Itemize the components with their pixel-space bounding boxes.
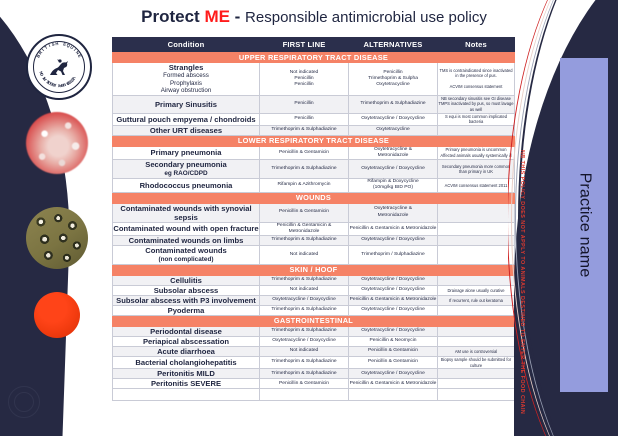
cell-first-line: Not indicatedPenicillinPenicillin xyxy=(260,63,349,96)
cell-alternatives: Penicillin & Gentamicin & Metronidazole xyxy=(349,295,438,305)
cell-alternatives: Rifampin & Doxycycline(10mg/kg BID PO) xyxy=(349,179,438,192)
cell-first-line: Trimethoprim & Sulphadiazine xyxy=(260,160,349,179)
cell-condition: Cellulitis xyxy=(113,275,260,285)
cell-first-line: Trimethoprim & Sulphadiazine xyxy=(260,235,349,245)
cell-alternatives: Oxytetracycline / Doxycycline xyxy=(349,275,438,285)
cell-notes: ACVIM consensus statement 2011 xyxy=(438,179,515,192)
cell-condition: Contaminated wounds on limbs xyxy=(113,235,260,245)
cell-notes xyxy=(438,369,515,379)
condition-name: Peritonitis SEVERE xyxy=(113,379,259,388)
table-row: Bacterial cholangiohepatitisTrimethoprim… xyxy=(113,356,515,368)
cell-alternatives: Oxytetracycline / Doxycycline xyxy=(349,326,438,336)
condition-name: Contaminated wounds xyxy=(113,246,259,255)
cell-alternatives: Oxytetracycline / Doxycycline xyxy=(349,305,438,315)
table-row: Periodontal diseaseTrimethoprim & Sulpha… xyxy=(113,326,515,336)
cell-alternatives: Penicillin & Gentamicin xyxy=(349,346,438,356)
watermark-seal-icon xyxy=(8,386,40,418)
cell-alternatives: Oxytetracycline / Doxycycline xyxy=(349,113,438,125)
cell-condition: Bacterial cholangiohepatitis xyxy=(113,356,260,368)
cell-notes: NB secondary sinusitis see GI disease TM… xyxy=(438,95,515,113)
section-title: UPPER RESPIRATORY TRACT DISEASE xyxy=(113,52,515,63)
cell-condition: Contaminated wounds with synovial sepsis xyxy=(113,203,260,222)
cell-condition: Other URT diseases xyxy=(113,125,260,135)
cell-condition: Periodontal disease xyxy=(113,326,260,336)
section-header-row: SKIN / HOOF xyxy=(113,264,515,275)
cell-notes xyxy=(438,336,515,346)
section-title: LOWER RESPIRATORY TRACT DISEASE xyxy=(113,135,515,146)
table-header-row: Condition FIRST LINE ALTERNATIVES Notes xyxy=(113,38,515,52)
cell-alternatives xyxy=(349,389,438,401)
photo-red-tissue xyxy=(34,292,80,338)
cell-condition: Primary Sinusitis xyxy=(113,95,260,113)
cell-notes: If recurrent, rule out keratoma xyxy=(438,295,515,305)
cell-condition: Secondary pneumoniaeg RAO/CDPD xyxy=(113,160,260,179)
cell-notes xyxy=(438,125,515,135)
cell-condition: Contaminated wounds(non complicated) xyxy=(113,245,260,264)
section-title: SKIN / HOOF xyxy=(113,264,515,275)
cell-notes: Biopsy sample should be submitted for cu… xyxy=(438,356,515,368)
antimicrobial-policy-table: Condition FIRST LINE ALTERNATIVES Notes … xyxy=(112,37,515,401)
cell-alternatives: Trimethoprim / Sulphadiazine xyxy=(349,245,438,264)
table-row-empty xyxy=(113,389,515,401)
cell-first-line: Trimethoprim & Sulphadiazine xyxy=(260,125,349,135)
cell-notes: TMS is contraindicated since inactivated… xyxy=(438,63,515,96)
cell-first-line: Oxytetracycline / Doxycycline xyxy=(260,295,349,305)
cell-first-line: Penicillin xyxy=(260,113,349,125)
cell-notes xyxy=(438,245,515,264)
photo-tissue-red xyxy=(26,112,88,174)
title-dash: - xyxy=(230,7,245,26)
cell-alternatives: Penicillin & Gentamicin & Metronidazole xyxy=(349,379,438,389)
cell-notes xyxy=(438,203,515,222)
cell-first-line: Not indicated xyxy=(260,285,349,295)
condition-name: Primary pneumonia xyxy=(113,148,259,157)
cell-alternatives: Oxytetracycline / Doxycycline xyxy=(349,369,438,379)
table-row: PyodermaTrimethoprim & SulphadiazineOxyt… xyxy=(113,305,515,315)
condition-name: Acute diarrhoea xyxy=(113,347,259,356)
table-row: Periapical abscessationOxytetracycline /… xyxy=(113,336,515,346)
cell-first-line: Penicillin & Gentamicin xyxy=(260,146,349,159)
condition-name: Contaminated wounds with synovial sepsis xyxy=(113,204,259,222)
cell-condition: Primary pneumonia xyxy=(113,146,260,159)
condition-name: Peritonitis MILD xyxy=(113,369,259,378)
table-header: Condition FIRST LINE ALTERNATIVES Notes xyxy=(113,38,515,52)
condition-name: Primary Sinusitis xyxy=(113,100,259,109)
slide-root: BRITISH EQUINEVETERINARY ASSOCIATION Pro… xyxy=(0,0,618,436)
cell-condition: Peritonitis SEVERE xyxy=(113,379,260,389)
table-row: Rhodococcus pneumoniaRifampin & Azithrom… xyxy=(113,179,515,192)
section-title: GASTROINTESTINAL xyxy=(113,315,515,326)
condition-subline: (non complicated) xyxy=(113,255,259,264)
table-row: Acute diarrhoeaNot indicatedPenicillin &… xyxy=(113,346,515,356)
cell-alternatives: Oxytetracycline xyxy=(349,125,438,135)
cell-first-line: Penicillin & Gentamicin &Metronidazole xyxy=(260,222,349,235)
cell-notes xyxy=(438,326,515,336)
cell-condition: Subsolar abscess with P3 involvement xyxy=(113,295,260,305)
table-row: Contaminated wound with open fracturePen… xyxy=(113,222,515,235)
cell-first-line xyxy=(260,389,349,401)
cell-condition: Subsolar abscess xyxy=(113,285,260,295)
table-row: CellulitisTrimethoprim & SulphadiazineOx… xyxy=(113,275,515,285)
cell-alternatives: Penicillin & Neomycin xyxy=(349,336,438,346)
section-header-row: UPPER RESPIRATORY TRACT DISEASE xyxy=(113,52,515,63)
cell-notes xyxy=(438,222,515,235)
table-row: Contaminated wounds(non complicated)Not … xyxy=(113,245,515,264)
title-protect: Protect xyxy=(141,7,204,26)
table-row: Primary pneumoniaPenicillin & Gentamicin… xyxy=(113,146,515,159)
cell-first-line: Trimethoprim & Sulphadiazine xyxy=(260,275,349,285)
cell-notes xyxy=(438,389,515,401)
condition-name: Strangles xyxy=(113,63,259,72)
condition-name: Subsolar abscess with P3 involvement xyxy=(113,296,259,305)
cell-first-line: Trimethoprim & Sulphadiazine xyxy=(260,369,349,379)
cell-notes xyxy=(438,235,515,245)
cell-notes xyxy=(438,379,515,389)
cell-alternatives: Penicillin & Gentamicin & Metronidazole xyxy=(349,222,438,235)
cell-condition xyxy=(113,389,260,401)
condition-name: Bacterial cholangiohepatitis xyxy=(113,358,259,367)
cell-condition: Periapical abscessation xyxy=(113,336,260,346)
table-row: Primary SinusitisPenicillinTrimethoprim … xyxy=(113,95,515,113)
condition-name: Rhodococcus pneumonia xyxy=(113,181,259,190)
cell-notes: S equi is most common implicated bacteri… xyxy=(438,113,515,125)
cell-condition: Guttural pouch empyema / chondroids xyxy=(113,113,260,125)
condition-subline: Formed abscess xyxy=(113,72,259,80)
cell-first-line: Trimethoprim & Sulphadiazine xyxy=(260,356,349,368)
cell-notes: Drainage alone usually curative xyxy=(438,285,515,295)
beva-logo: BRITISH EQUINEVETERINARY ASSOCIATION xyxy=(26,34,92,100)
cell-notes: AM use is controversial xyxy=(438,346,515,356)
condition-name: Contaminated wound with open fracture xyxy=(113,224,259,233)
cell-condition: Acute diarrhoea xyxy=(113,346,260,356)
cell-first-line: Trimethoprim & Sulphadiazine xyxy=(260,305,349,315)
beva-logo-ring: BRITISH EQUINEVETERINARY ASSOCIATION xyxy=(33,41,85,93)
condition-name: Periapical abscessation xyxy=(113,337,259,346)
condition-name: Other URT diseases xyxy=(113,126,259,135)
condition-name: Contaminated wounds on limbs xyxy=(113,236,259,245)
cell-notes xyxy=(438,305,515,315)
cell-first-line: Oxytetracycline / Doxycycline xyxy=(260,336,349,346)
cell-first-line: Penicillin & Gentamicin xyxy=(260,379,349,389)
page-title: Protect ME - Responsible antimicrobial u… xyxy=(118,7,510,27)
condition-name: Pyoderma xyxy=(113,306,259,315)
cell-condition: StranglesFormed abscessProphylaxisAirway… xyxy=(113,63,260,96)
cell-first-line: Not indicated xyxy=(260,245,349,264)
condition-name: Cellulitis xyxy=(113,276,259,285)
cell-condition: Peritonitis MILD xyxy=(113,369,260,379)
table-row: Subsolar abscessNot indicatedOxytetracyc… xyxy=(113,285,515,295)
cell-condition: Rhodococcus pneumonia xyxy=(113,179,260,192)
practice-name-placeholder[interactable]: Practice name xyxy=(560,58,608,392)
beva-logo-text: BRITISH EQUINEVETERINARY ASSOCIATION xyxy=(34,42,84,92)
condition-subline: Airway obstruction xyxy=(113,87,259,95)
table-row: Guttural pouch empyema / chondroidsPenic… xyxy=(113,113,515,125)
cell-condition: Contaminated wound with open fracture xyxy=(113,222,260,235)
condition-subline: Prophylaxis xyxy=(113,80,259,88)
food-chain-warning: NB THIS POLICY DOES NOT APPLY TO ANIMALS… xyxy=(519,150,525,414)
table-row: Subsolar abscess with P3 involvementOxyt… xyxy=(113,295,515,305)
table-row: Contaminated wounds with synovial sepsis… xyxy=(113,203,515,222)
cell-condition: Pyoderma xyxy=(113,305,260,315)
cell-notes: Primary pneumonia is uncommonAffected an… xyxy=(438,146,515,159)
condition-name: Guttural pouch empyema / chondroids xyxy=(113,115,259,124)
condition-name: Secondary pneumonia xyxy=(113,160,259,169)
table-body: UPPER RESPIRATORY TRACT DISEASEStrangles… xyxy=(113,52,515,401)
title-subtitle: Responsible antimicrobial use policy xyxy=(245,9,487,26)
table-row: Other URT diseasesTrimethoprim & Sulphad… xyxy=(113,125,515,135)
column-header-alternatives: ALTERNATIVES xyxy=(349,38,438,52)
cell-alternatives: Penicillin & Gentamicin xyxy=(349,356,438,368)
column-header-first-line: FIRST LINE xyxy=(260,38,349,52)
cell-first-line: Trimethoprim & Sulphadiazine xyxy=(260,326,349,336)
cell-first-line: Penicillin & Gentamicin xyxy=(260,203,349,222)
table-row: Peritonitis SEVEREPenicillin & Gentamici… xyxy=(113,379,515,389)
cell-alternatives: Oxytetracycline &Metronidazole xyxy=(349,203,438,222)
cell-first-line: Penicillin xyxy=(260,95,349,113)
table-row: StranglesFormed abscessProphylaxisAirway… xyxy=(113,63,515,96)
column-header-notes: Notes xyxy=(438,38,515,52)
cell-alternatives: Oxytetracycline / Doxycycline xyxy=(349,285,438,295)
table-row: Secondary pneumoniaeg RAO/CDPDTrimethopr… xyxy=(113,160,515,179)
cell-first-line: Rifampin & Azithromycin xyxy=(260,179,349,192)
cell-alternatives: PenicillinTrimethoprim & SulphaOxytetrac… xyxy=(349,63,438,96)
condition-name: Subsolar abscess xyxy=(113,286,259,295)
cell-first-line: Not indicated xyxy=(260,346,349,356)
condition-name: Periodontal disease xyxy=(113,327,259,336)
photo-culture-plate xyxy=(26,207,88,269)
table-row: Contaminated wounds on limbsTrimethoprim… xyxy=(113,235,515,245)
cell-alternatives: Trimethoprim & Sulphadiazine xyxy=(349,95,438,113)
section-title: WOUNDS xyxy=(113,192,515,203)
section-header-row: GASTROINTESTINAL xyxy=(113,315,515,326)
cell-alternatives: Oxytetracycline / Doxycycline xyxy=(349,235,438,245)
condition-subline: eg RAO/CDPD xyxy=(113,169,259,178)
section-header-row: LOWER RESPIRATORY TRACT DISEASE xyxy=(113,135,515,146)
column-header-condition: Condition xyxy=(113,38,260,52)
cell-notes: Secondary pneumonia more commonthan prim… xyxy=(438,160,515,179)
table-row: Peritonitis MILDTrimethoprim & Sulphadia… xyxy=(113,369,515,379)
cell-notes xyxy=(438,275,515,285)
section-header-row: WOUNDS xyxy=(113,192,515,203)
title-me: ME xyxy=(204,7,230,26)
cell-alternatives: Oxytetracycline / Doxycycline xyxy=(349,160,438,179)
practice-name-label: Practice name xyxy=(575,173,593,278)
cell-alternatives: Oxytetracycline &Metronidazole xyxy=(349,146,438,159)
